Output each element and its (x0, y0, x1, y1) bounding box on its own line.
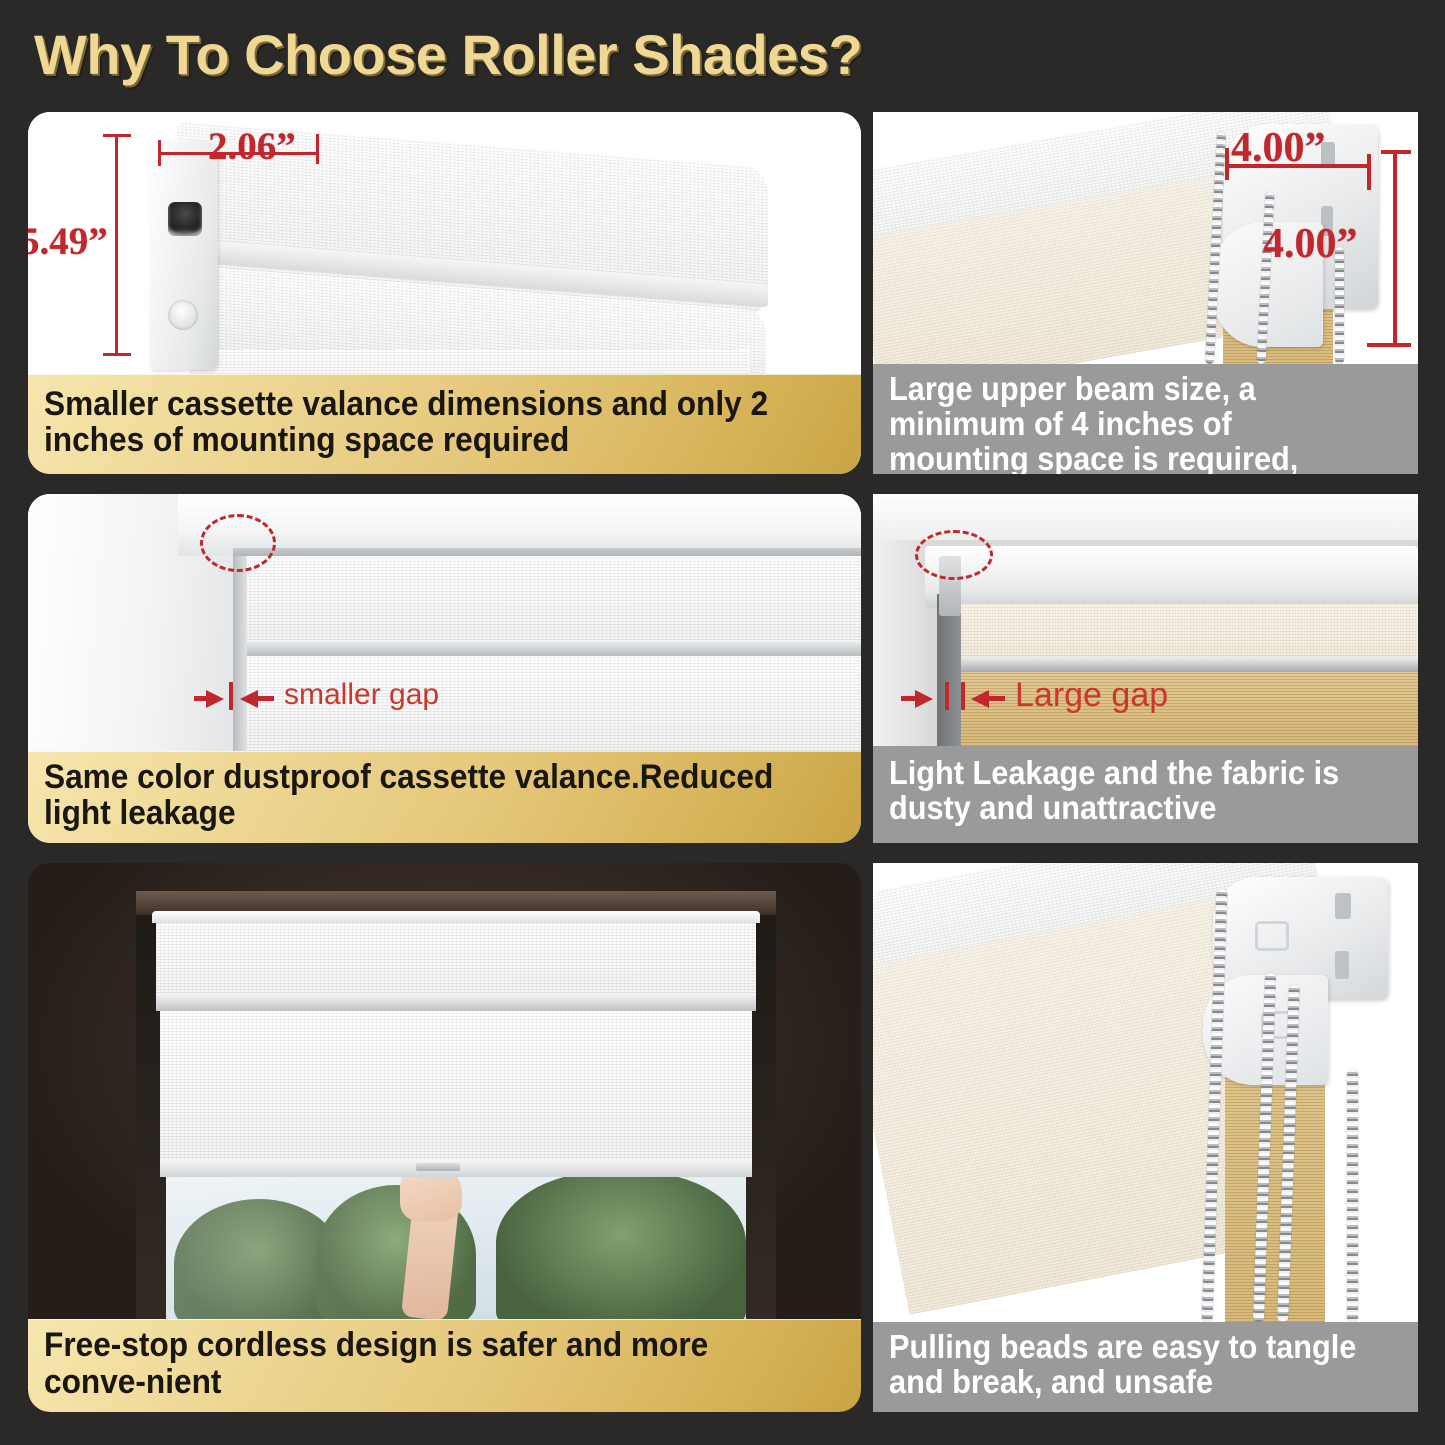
height-dim-cap-top (103, 134, 131, 137)
panel-caption: Same color dustproof cassette valance.Re… (28, 751, 861, 843)
bracket-notch-a-icon (1335, 893, 1351, 919)
beam-height-cap-top (1381, 150, 1411, 154)
gap-label: Large gap (1015, 676, 1168, 715)
gap-marker-line-inner (961, 682, 965, 710)
panel-caption: Free-stop cordless design is safer and m… (28, 1319, 861, 1412)
window-frame-top (178, 494, 861, 556)
height-dimension-label: 5.49” (28, 219, 108, 264)
valance-top-cap (152, 911, 760, 923)
panel-caption: Pulling beads are easy to tangle and bre… (873, 1322, 1418, 1412)
beam-width-cap-right (1367, 154, 1371, 190)
panel-caption: Smaller cassette valance dimensions and … (28, 374, 861, 474)
panel-cordless-design: Free-stop cordless design is safer and m… (28, 863, 861, 1412)
beam-width-cap-left (1225, 148, 1229, 180)
valance-lower-edge (238, 642, 861, 656)
wall-left (873, 540, 929, 746)
dustproof-valance-photo: smaller gap (28, 494, 861, 751)
cassette-end-bracket (150, 140, 218, 370)
panel-caption: Light Leakage and the fabric is dusty an… (873, 746, 1418, 843)
width-dim-cap-right (316, 134, 319, 164)
shade-side-edge (233, 556, 247, 751)
shade-fabric (190, 350, 750, 374)
gap-arrow-right-stem (987, 696, 1005, 701)
beam-height-dimension-label: 4.00” (1263, 220, 1358, 268)
page-title: Why To Choose Roller Shades? (34, 22, 862, 87)
bracket-arrow-emblem-icon (1255, 921, 1289, 951)
gap-marker-line-outer (945, 682, 949, 710)
highlight-ellipse (200, 514, 276, 572)
light-gap-shadow (937, 594, 961, 746)
gap-arrow-left-stem (901, 696, 919, 701)
cassette-valance-photo: 2.06” 5.49” (28, 112, 861, 374)
bottom-rail-grip (416, 1163, 460, 1171)
upper-beam-shell (925, 546, 1418, 608)
infographic-page: Why To Choose Roller Shades? 2.06” 5.49” (0, 0, 1445, 1445)
gap-marker-line (229, 682, 233, 710)
shade-fabric-lowered (160, 1011, 752, 1173)
panel-caption-text: Light Leakage and the fabric is dusty an… (889, 756, 1366, 826)
panel-pulling-beads: Pulling beads are easy to tangle and bre… (873, 863, 1418, 1412)
light-leakage-photo: Large gap (873, 494, 1418, 746)
gap-arrow-right-stem (256, 696, 274, 701)
highlight-ellipse (915, 530, 993, 580)
cassette-valance (156, 913, 756, 999)
gap-label: smaller gap (284, 678, 439, 712)
gap-arrow-left-stem (194, 696, 210, 701)
large-beam-photo: 4.00” 4.00” (873, 112, 1418, 364)
panel-large-upper-beam: 4.00” 4.00” Large upper beam size, a min… (873, 112, 1418, 474)
cassette-valance-face (238, 556, 861, 646)
panel-cassette-dimensions: 2.06” 5.49” Smaller cassette valance dim… (28, 112, 861, 474)
pulling-beads-photo (873, 863, 1418, 1322)
height-dim-cap-bottom (103, 353, 131, 356)
bracket-slot-icon (168, 202, 202, 236)
cordless-window-photo (28, 863, 861, 1319)
width-dim-cap-left (158, 140, 161, 166)
panel-caption-text: Large upper beam size, a minimum of 4 in… (889, 372, 1366, 474)
panel-caption-text: Pulling beads are easy to tangle and bre… (889, 1330, 1366, 1400)
beam-fabric-cream (953, 604, 1418, 662)
beam-height-dim-line (1393, 150, 1397, 346)
panel-light-leakage: Large gap Light Leakage and the fabric i… (873, 494, 1418, 843)
height-dim-line (115, 134, 118, 356)
width-dimension-label: 2.06” (208, 124, 296, 169)
panel-caption-text: Same color dustproof cassette valance.Re… (44, 759, 789, 831)
bracket-screw-icon (168, 300, 198, 330)
beam-width-dimension-label: 4.00” (1231, 124, 1326, 172)
bracket-notch-b-icon (1335, 951, 1349, 979)
beam-bottom-edge (953, 658, 1418, 672)
panel-dustproof-valance: smaller gap Same color dustproof cassett… (28, 494, 861, 843)
panel-caption: Large upper beam size, a minimum of 4 in… (873, 364, 1418, 474)
bead-chain-far-right (1347, 1069, 1358, 1322)
panel-caption-text: Smaller cassette valance dimensions and … (44, 386, 789, 458)
beam-height-cap-bottom (1367, 343, 1411, 347)
panel-caption-text: Free-stop cordless design is safer and m… (44, 1327, 789, 1399)
valance-bottom-edge (156, 995, 756, 1011)
